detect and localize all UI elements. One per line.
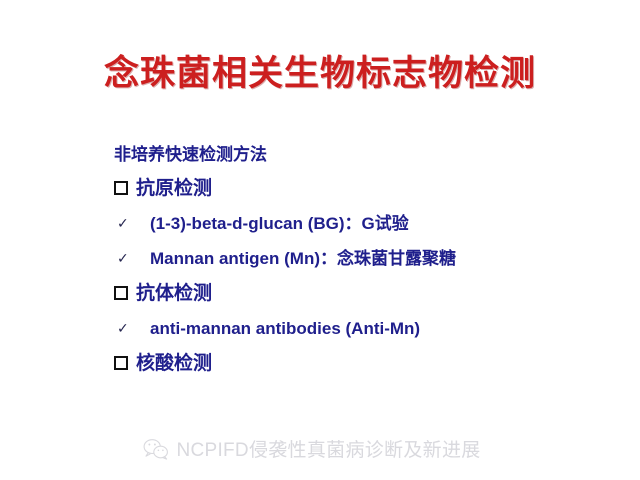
check-bullet-icon: ✓ [117,206,150,241]
slide-canvas: 念珠菌相关生物标志物检测 非培养快速检测方法 抗原检测 ✓ (1-3)-beta… [0,0,640,480]
list-item-label: 非培养快速检测方法 [114,138,267,171]
square-bullet-icon [114,345,136,380]
watermark: NCPIFD侵袭性真菌病诊断及新进展 [0,435,624,462]
check-bullet-icon: ✓ [117,241,150,276]
list-item-label: 核酸检测 [136,346,212,381]
square-bullet-icon [114,275,136,310]
list-item-label: anti-mannan antibodies (Anti-Mn) [150,311,420,346]
wechat-icon [143,438,169,460]
list-item-mannan-antigen: ✓ Mannan antigen (Mn)：念珠菌甘露聚糖 [112,241,610,276]
watermark-text: NCPIFD侵袭性真菌病诊断及新进展 [176,435,480,462]
list-item-label: 抗原检测 [136,171,212,206]
list-item-heading: 非培养快速检测方法 [112,138,610,171]
list-item-antigen-detection: 抗原检测 [112,171,610,206]
list-item-anti-mannan-antibodies: ✓ anti-mannan antibodies (Anti-Mn) [112,311,610,346]
check-bullet-icon: ✓ [117,311,150,346]
list-item-label: (1-3)-beta-d-glucan (BG)：G试验 [150,206,409,241]
content-list: 非培养快速检测方法 抗原检测 ✓ (1-3)-beta-d-glucan (BG… [112,138,610,381]
square-bullet-icon [114,170,136,205]
list-item-label: 抗体检测 [136,276,212,311]
page-title: 念珠菌相关生物标志物检测 [0,52,640,96]
list-item-nucleic-acid-detection: 核酸检测 [112,346,610,381]
list-item-bg-glucan: ✓ (1-3)-beta-d-glucan (BG)：G试验 [112,206,610,241]
list-item-antibody-detection: 抗体检测 [112,276,610,311]
list-item-label: Mannan antigen (Mn)：念珠菌甘露聚糖 [150,241,456,276]
